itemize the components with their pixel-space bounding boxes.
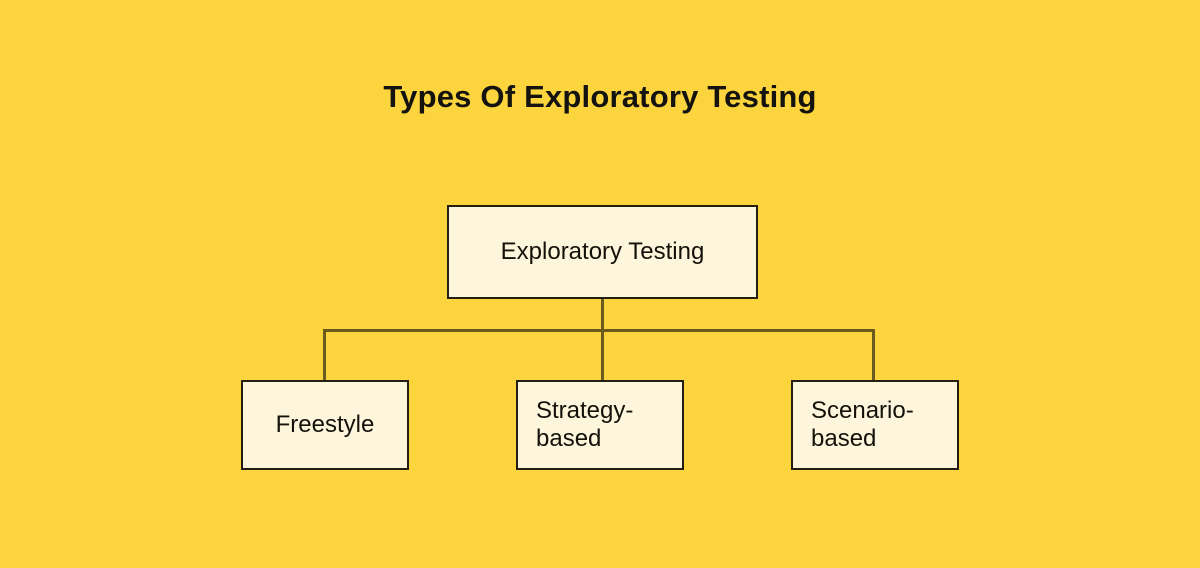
node-label-freestyle: Freestyle [276, 411, 375, 439]
node-label-exploratory-testing: Exploratory Testing [501, 238, 705, 266]
node-scenario-based[interactable]: Scenario- based [791, 380, 959, 470]
page-title: Types Of Exploratory Testing [0, 79, 1200, 115]
node-freestyle[interactable]: Freestyle [241, 380, 409, 470]
node-strategy-based[interactable]: Strategy- based [516, 380, 684, 470]
node-label-strategy-based: Strategy- based [536, 397, 633, 453]
node-exploratory-testing[interactable]: Exploratory Testing [447, 205, 758, 299]
diagram-canvas: Types Of Exploratory Testing Exploratory… [0, 0, 1200, 568]
node-label-scenario-based: Scenario- based [811, 397, 914, 453]
